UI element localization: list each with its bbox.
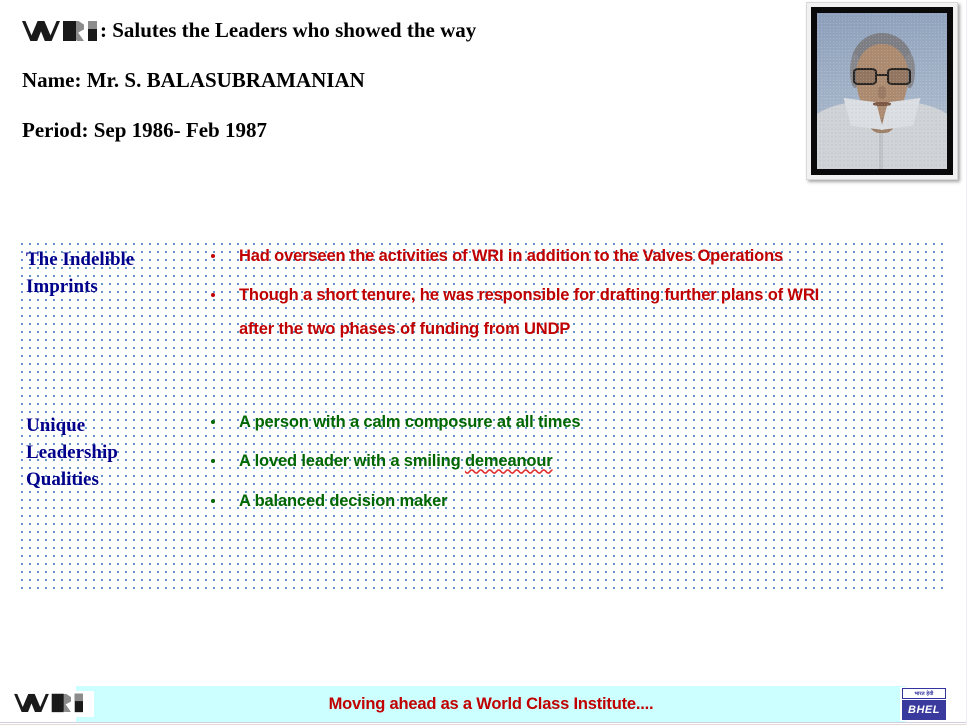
list-item-text: A person with a calm composure at all ti… [239, 413, 580, 431]
list-item-text: Though a short tenure, he was responsibl… [239, 286, 819, 304]
list-item-text: Had overseen the activities of WRI in ad… [239, 247, 783, 265]
bullet-dot-icon [211, 254, 215, 258]
bottom-rule [0, 722, 967, 723]
bhel-logo-hindi-text: भारत हेवी [902, 688, 946, 699]
wri-logo-icon [22, 18, 100, 44]
bullet-dot-icon [211, 499, 215, 503]
bullet-dot-icon [211, 420, 215, 424]
list-item: Though a short tenure, he was responsibl… [203, 286, 943, 304]
wri-logo-icon [14, 691, 86, 715]
bhel-logo-text: BHEL [902, 700, 946, 720]
portrait-frame [806, 2, 958, 180]
bullet-dot-icon [211, 459, 215, 463]
portrait-border [811, 7, 953, 175]
avatar [817, 13, 947, 169]
leader-name-line: Name: Mr. S. BALASUBRAMANIAN [22, 69, 782, 92]
spell-check-error-word: demeanour [465, 452, 553, 470]
footer-tagline: Moving ahead as a World Class Institute.… [76, 686, 906, 722]
footer-wri-logo [14, 691, 94, 717]
leader-period-line: Period: Sep 1986- Feb 1987 [22, 119, 782, 142]
slide-canvas: : Salutes the Leaders who showed the way… [0, 0, 967, 725]
slide-title-line: : Salutes the Leaders who showed the way [22, 18, 782, 44]
bhel-logo-icon: भारत हेवी BHEL [900, 687, 948, 721]
list-item-text: A loved leader with a smiling [239, 452, 465, 470]
list-item-continuation: after the two phases of funding from UND… [203, 320, 943, 338]
list-item-text: A balanced decision maker [239, 492, 447, 510]
section-heading-qualities: Unique Leadership Qualities [26, 413, 201, 494]
bullet-list-qualities: A person with a calm composure at all ti… [203, 413, 943, 531]
list-item: A balanced decision maker [203, 492, 943, 510]
list-item: Had overseen the activities of WRI in ad… [203, 247, 943, 265]
list-item: A loved leader with a smiling demeanour [203, 452, 943, 470]
footer-bar: Moving ahead as a World Class Institute.… [0, 686, 967, 722]
section-heading-imprints: The Indelible Imprints [26, 247, 201, 301]
footer-band: Moving ahead as a World Class Institute.… [76, 686, 906, 722]
header-block: : Salutes the Leaders who showed the way… [22, 18, 782, 142]
bullet-list-imprints: Had overseen the activities of WRI in ad… [203, 247, 943, 354]
list-item-text: after the two phases of funding from UND… [239, 320, 570, 338]
bullet-dot-icon [211, 293, 215, 297]
content-panel: The Indelible Imprints Had overseen the … [17, 239, 946, 595]
glasses-icon [853, 68, 910, 85]
page-title: : Salutes the Leaders who showed the way [100, 19, 476, 42]
list-item: A person with a calm composure at all ti… [203, 413, 943, 431]
